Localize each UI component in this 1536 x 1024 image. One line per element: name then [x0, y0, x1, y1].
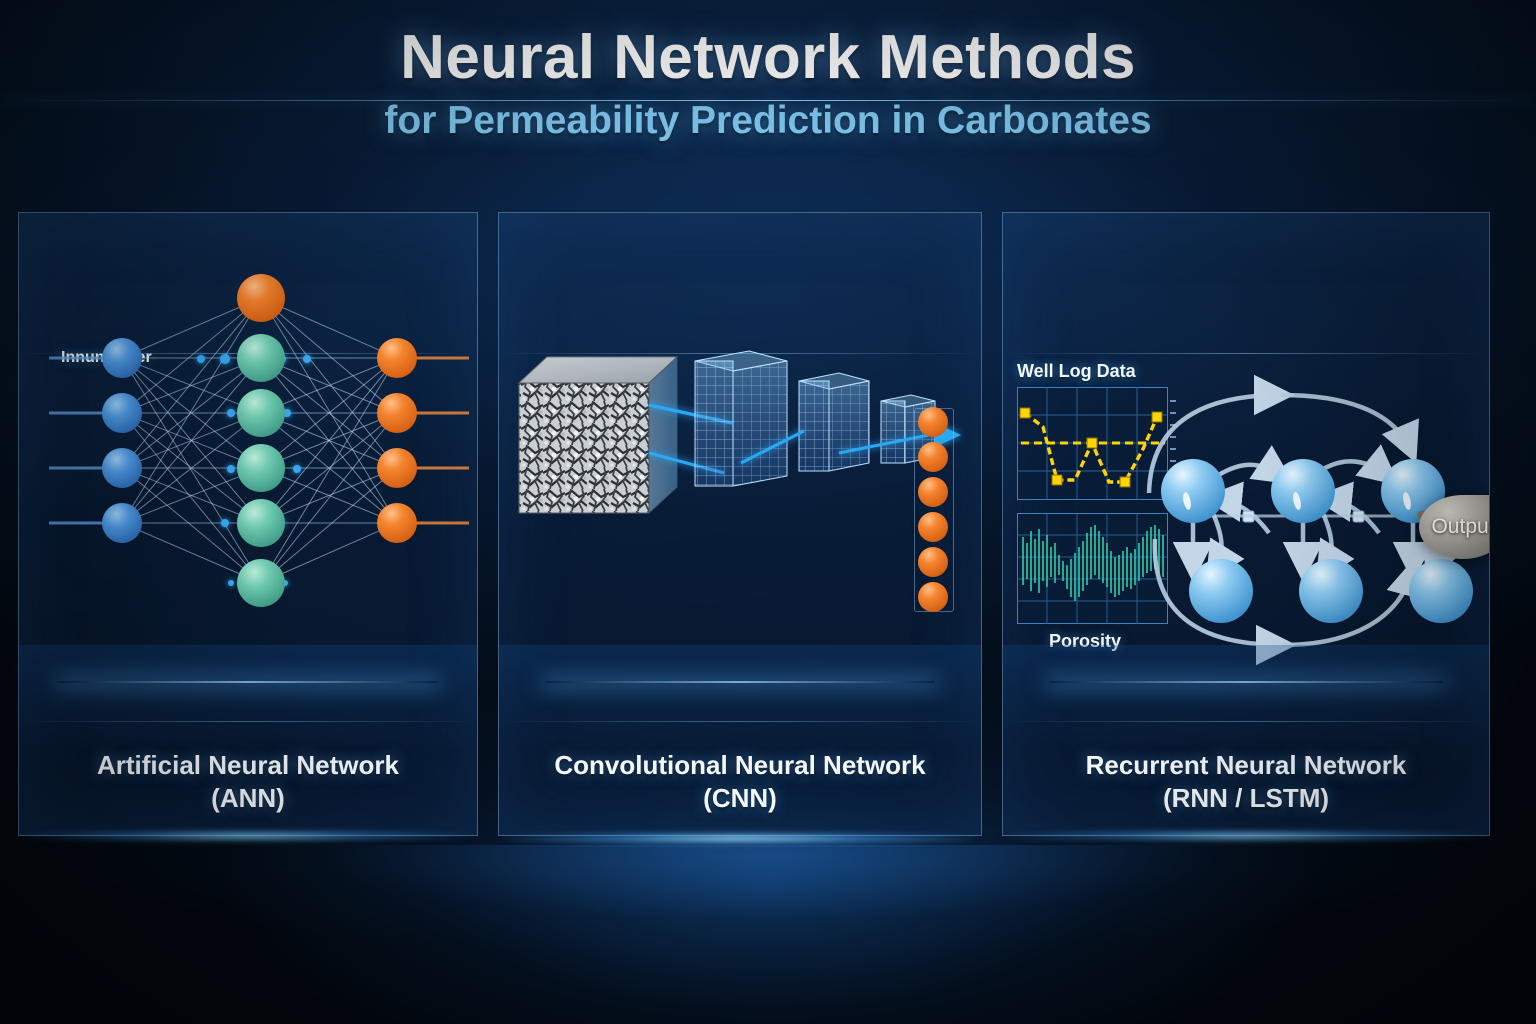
cnn-conv-block-1: [695, 351, 787, 493]
well-log-data-label: Well Log Data: [1017, 361, 1136, 382]
panel-rnn-inner-rule-2: [1003, 721, 1489, 722]
cnn-output-nodes: [903, 405, 963, 615]
panel-rnn-caption-line2: (RNN / LSTM): [1003, 782, 1489, 815]
rnn-panel-underglow: [1006, 830, 1484, 842]
rnn-output-label: Output: [1431, 515, 1490, 539]
header-divider: [0, 100, 1536, 101]
ann-hidden-node-top: [237, 274, 285, 322]
panel-cnn[interactable]: Convolutional Neural Network (CNN): [498, 212, 982, 836]
panel-rnn[interactable]: Well Log Data: [1002, 212, 1490, 836]
rnn-cell: [1161, 459, 1445, 523]
panel-rnn-caption-line1: Recurrent Neural Network: [1003, 749, 1489, 782]
panel-rnn-caption: Recurrent Neural Network (RNN / LSTM): [1003, 749, 1489, 816]
cnn-conv-block-2: [799, 373, 869, 471]
page-title: Neural Network Methods: [0, 22, 1536, 93]
rnn-cell: [1189, 559, 1473, 623]
ann-panel-underglow: [22, 830, 472, 842]
panel-ann-caption: Artificial Neural Network (ANN): [19, 749, 477, 816]
cnn-rock-cube: [519, 357, 677, 513]
ann-network-diagram: [19, 273, 477, 743]
ann-input-node: [102, 338, 142, 543]
panel-cnn-caption-line1: Convolutional Neural Network: [499, 749, 981, 782]
panel-ann-caption-line1: Artificial Neural Network: [19, 749, 477, 782]
porosity-label: Porosity: [1049, 631, 1121, 652]
panel-rnn-inner-rule: [1003, 353, 1489, 354]
stage-floor-reflection: [0, 845, 1536, 1024]
ann-hidden-node: [237, 334, 285, 607]
panel-ann[interactable]: Innun Layer: [18, 212, 478, 836]
cnn-shelf-glow: [545, 681, 935, 683]
ann-output-node: [377, 338, 417, 543]
ann-shelf-glow: [59, 681, 437, 683]
panel-cnn-caption: Convolutional Neural Network (CNN): [499, 749, 981, 816]
rnn-shelf-glow: [1049, 681, 1443, 683]
infographic-canvas: Neural Network Methods for Permeability …: [0, 0, 1536, 1024]
panel-ann-caption-line2: (ANN): [19, 782, 477, 815]
header: Neural Network Methods for Permeability …: [0, 22, 1536, 143]
page-subtitle: for Permeability Prediction in Carbonate…: [0, 99, 1536, 143]
cnn-panel-underglow: [502, 832, 976, 845]
panel-cnn-caption-line2: (CNN): [499, 782, 981, 815]
